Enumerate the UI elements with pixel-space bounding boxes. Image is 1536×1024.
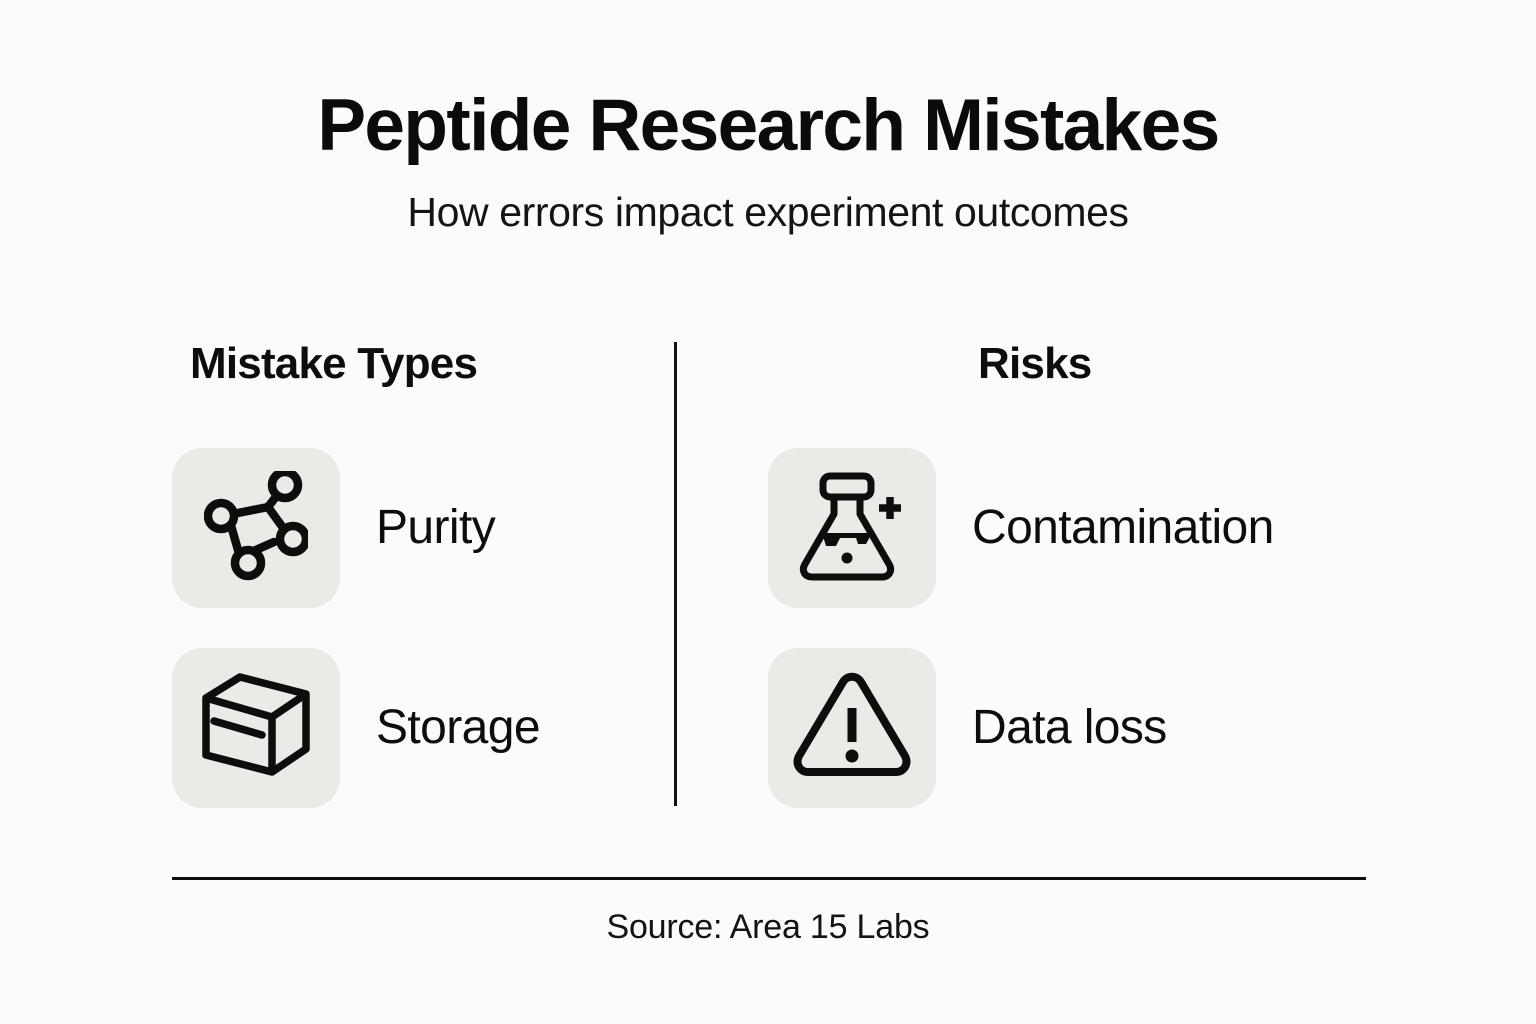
flask-plus-icon bbox=[796, 470, 908, 587]
infographic-canvas: Peptide Research Mistakes How errors imp… bbox=[0, 0, 1536, 1024]
icon-tile-storage bbox=[172, 648, 340, 808]
list-item[interactable]: Contamination bbox=[768, 448, 1274, 608]
list-item[interactable]: Storage bbox=[172, 648, 540, 808]
header: Peptide Research Mistakes How errors imp… bbox=[0, 88, 1536, 235]
list-item-label: Storage bbox=[376, 704, 540, 752]
source-text: Source: Area 15 Labs bbox=[0, 908, 1536, 947]
list-item-label: Contamination bbox=[972, 504, 1274, 552]
molecule-icon bbox=[204, 471, 308, 586]
columns-area: Mistake Types bbox=[0, 342, 1536, 808]
icon-tile-purity bbox=[172, 448, 340, 608]
footer-divider bbox=[172, 877, 1366, 880]
list-mistake-types: Purity Storage bbox=[172, 448, 540, 848]
list-item-label: Purity bbox=[376, 504, 495, 552]
icon-tile-data-loss bbox=[768, 648, 936, 808]
page-title: Peptide Research Mistakes bbox=[0, 88, 1536, 164]
column-heading-right: Risks bbox=[768, 342, 1368, 398]
list-item-label: Data loss bbox=[972, 704, 1167, 752]
column-mistake-types: Mistake Types bbox=[172, 342, 652, 398]
column-risks: Risks Cont bbox=[768, 342, 1368, 398]
list-item[interactable]: Data loss bbox=[768, 648, 1274, 808]
page-subtitle: How errors impact experiment outcomes bbox=[0, 190, 1536, 235]
warning-triangle-icon bbox=[793, 672, 911, 785]
list-item[interactable]: Purity bbox=[172, 448, 540, 608]
icon-tile-contamination bbox=[768, 448, 936, 608]
column-divider bbox=[674, 342, 677, 806]
list-risks: Contamination Data loss bbox=[768, 448, 1274, 848]
box-icon bbox=[200, 673, 312, 784]
column-heading-left: Mistake Types bbox=[172, 342, 652, 398]
